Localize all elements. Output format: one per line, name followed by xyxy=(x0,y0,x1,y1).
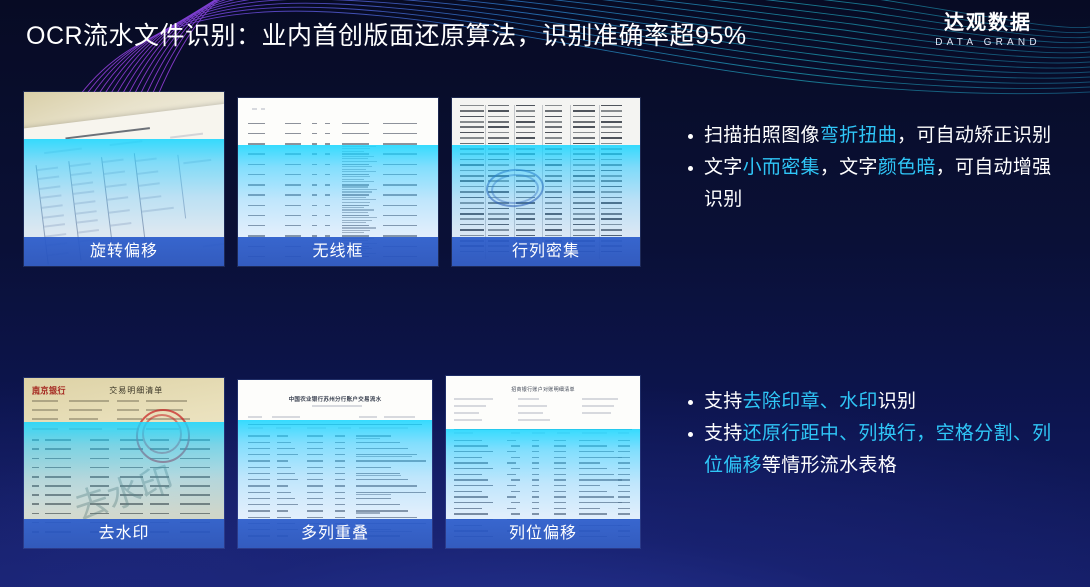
doc-texture-line xyxy=(277,510,287,511)
doc-texture-line xyxy=(312,164,317,165)
doc-texture-line xyxy=(342,151,365,152)
doc-texture-line xyxy=(516,213,535,215)
doc-texture-line xyxy=(460,235,484,237)
doc-texture-line xyxy=(342,207,365,208)
doc-texture-line xyxy=(601,170,622,172)
doc-texture-line xyxy=(356,438,380,439)
doc-texture-line xyxy=(45,476,71,478)
thumbnail-card-borderless[interactable]: 无线框 xyxy=(238,98,438,266)
doc-texture-line xyxy=(342,189,378,190)
doc-texture-line xyxy=(277,473,294,474)
thumbnail-card-remove-watermark[interactable]: 南京银行 BANK OF NANJING 交易明细清单 xyxy=(24,378,224,548)
doc-texture-line xyxy=(356,475,401,476)
doc-texture-line xyxy=(488,218,509,220)
doc-texture-line xyxy=(325,123,330,124)
doc-texture-line xyxy=(180,503,210,505)
doc-texture-line xyxy=(554,491,566,492)
doc-texture-line xyxy=(573,202,595,204)
card-caption: 旋转偏移 xyxy=(24,237,224,266)
doc-texture-line xyxy=(312,194,317,195)
doc-texture-line xyxy=(460,132,484,134)
doc-texture-line xyxy=(32,439,40,441)
doc-texture-line xyxy=(454,474,483,475)
doc-texture-line xyxy=(150,513,169,515)
bullet-text: ，文字 xyxy=(820,157,878,178)
doc-texture-line xyxy=(285,205,300,206)
doc-texture-line xyxy=(573,110,595,112)
doc-texture-line xyxy=(342,191,372,192)
doc-texture-line xyxy=(488,143,509,145)
doc-texture-line xyxy=(248,460,271,461)
doc-texture-line xyxy=(342,194,369,195)
doc-texture-line xyxy=(516,132,535,134)
doc-texture-line xyxy=(545,164,562,166)
doc-texture-line xyxy=(460,229,484,231)
doc-texture-line xyxy=(454,440,483,441)
doc-texture-line xyxy=(516,126,535,128)
doc-texture-line xyxy=(545,202,562,204)
bullet-text: 识别 xyxy=(878,391,917,412)
doc-texture-line xyxy=(532,445,539,446)
doc-texture-line xyxy=(307,435,323,436)
doc-texture-line xyxy=(579,502,622,503)
doc-texture-line xyxy=(507,508,516,509)
doc-texture-line xyxy=(32,476,40,478)
doc-texture-line xyxy=(516,159,535,161)
doc-texture-line xyxy=(573,208,595,210)
doc-texture-line xyxy=(342,153,369,154)
doc-texture-line xyxy=(307,504,323,505)
doc-texture-line xyxy=(356,456,412,457)
bullet-item: 文字小而密集，文字颜色暗，可自动增强识别 xyxy=(686,152,1058,216)
doc-texture-line xyxy=(488,224,509,226)
doc-texture-line xyxy=(248,467,271,468)
doc-texture-line xyxy=(601,159,622,161)
doc-texture-line xyxy=(342,164,369,165)
doc-texture-line xyxy=(601,153,622,155)
doc-texture-line xyxy=(516,218,535,220)
doc-texture-line xyxy=(573,116,595,118)
doc-texture-line xyxy=(545,213,562,215)
doc-texture-line xyxy=(573,180,595,182)
doc-texture-line xyxy=(277,435,287,436)
bullet-highlight-text: 颜色暗 xyxy=(878,157,936,178)
doc-texture-line xyxy=(248,174,265,175)
doc-texture-line xyxy=(277,504,298,505)
doc-texture-line xyxy=(460,105,484,107)
doc-texture-line xyxy=(460,224,484,226)
doc-texture-line xyxy=(335,504,345,505)
doc-texture-line xyxy=(516,208,535,210)
bullet-item: 扫描拍照图像弯折扭曲，可自动矫正识别 xyxy=(686,120,1058,152)
doc-texture-line xyxy=(460,143,484,145)
doc-texture-line xyxy=(545,175,562,177)
thumbnail-card-column-offset[interactable]: 招商银行账户对账明细清单 xyxy=(446,376,640,548)
doc-texture-line xyxy=(488,116,509,118)
doc-texture-line xyxy=(454,485,493,486)
doc-texture-line xyxy=(573,126,595,128)
doc-texture-line xyxy=(601,116,622,118)
doc-texture-line xyxy=(618,479,630,480)
doc-texture-line xyxy=(507,451,516,452)
doc-texture-line xyxy=(460,202,484,204)
doc-texture-line xyxy=(573,218,595,220)
doc-texture-line xyxy=(383,143,417,144)
doc-texture-line xyxy=(573,148,595,150)
doc-texture-line xyxy=(601,208,622,210)
doc-texture-line xyxy=(335,492,345,493)
doc-texture-line xyxy=(356,467,391,468)
doc-texture-line xyxy=(342,225,369,226)
doc-texture-line xyxy=(601,121,622,123)
doc-texture-line xyxy=(488,235,509,237)
doc-texture-line xyxy=(601,186,622,188)
doc-texture-line xyxy=(307,485,323,486)
doc-texture-line xyxy=(342,174,369,175)
doc-texture-line xyxy=(325,153,330,154)
doc-texture-line xyxy=(248,143,265,144)
doc-texture-line xyxy=(554,479,566,480)
doc-texture-line xyxy=(285,194,300,195)
thumbnail-card-multi-column-overlap[interactable]: 中国农业银行苏州分行账户交易流水 多列重叠 xyxy=(238,380,432,548)
doc-texture-line xyxy=(248,194,265,195)
doc-texture-line xyxy=(579,513,608,514)
bullet-highlight-text: 弯折扭曲 xyxy=(820,125,897,146)
doc-texture-line xyxy=(601,218,622,220)
doc-texture-line xyxy=(383,133,417,134)
doc-texture-line xyxy=(460,148,484,150)
doc-texture-line xyxy=(532,508,539,509)
doc-texture-line xyxy=(545,235,562,237)
brand-logo: 达观数据 DATA GRAND xyxy=(908,12,1068,48)
doc-texture-line xyxy=(460,121,484,123)
doc-texture-line xyxy=(285,153,300,154)
doc-texture-line xyxy=(342,156,374,157)
doc-texture-line xyxy=(342,166,372,167)
doc-texture-line xyxy=(277,454,298,455)
doc-texture-line xyxy=(460,137,484,139)
doc-texture-line xyxy=(532,485,539,486)
doc-texture-line xyxy=(532,468,539,469)
bullet-item: 支持还原行距中、列换行，空格分割、列位偏移等情形流水表格 xyxy=(686,418,1058,482)
doc-texture-line xyxy=(573,121,595,123)
doc-texture-line xyxy=(601,197,622,199)
doc-texture-line xyxy=(248,215,265,216)
doc-texture-line xyxy=(307,473,323,474)
doc-texture-line xyxy=(325,184,330,185)
doc-texture-line xyxy=(554,457,566,458)
doc-texture-line xyxy=(90,467,109,469)
doc-texture-line xyxy=(45,513,71,515)
doc-texture-line xyxy=(277,485,287,486)
doc-texture-line xyxy=(601,137,622,139)
doc-texture-line xyxy=(511,457,520,458)
doc-texture-line xyxy=(307,479,323,480)
doc-texture-line xyxy=(383,153,417,154)
bullet-text: 支持 xyxy=(704,423,743,444)
doc-texture-line xyxy=(554,513,566,514)
doc-texture-line xyxy=(579,462,600,463)
doc-texture-line xyxy=(342,181,374,182)
doc-texture-line xyxy=(454,457,483,458)
doc-texture-line xyxy=(516,121,535,123)
doc-texture-line xyxy=(248,504,271,505)
doc-texture-line xyxy=(356,454,417,455)
doc-texture-line xyxy=(45,458,71,460)
doc-texture-line xyxy=(307,498,323,499)
doc-texture-line xyxy=(545,208,562,210)
doc-texture-line xyxy=(454,445,488,446)
doc-texture-line xyxy=(554,485,566,486)
doc-texture-line xyxy=(545,186,562,188)
doc-texture-line xyxy=(573,170,595,172)
doc-texture-line xyxy=(579,496,615,497)
slide-root: OCR流水文件识别：业内首创版面还原算法，识别准确率超95% 达观数据 DATA… xyxy=(0,0,1090,587)
doc-texture-line xyxy=(342,220,372,221)
doc-texture-line xyxy=(312,153,317,154)
doc-texture-line xyxy=(285,174,300,175)
doc-texture-line xyxy=(601,213,622,215)
doc-texture-line xyxy=(356,510,408,511)
doc-texture-line xyxy=(342,199,376,200)
doc-texture-line xyxy=(285,123,300,124)
doc-texture-line xyxy=(488,164,509,166)
doc-texture-line xyxy=(325,225,330,226)
doc-texture-line xyxy=(307,517,323,518)
doc-texture-line xyxy=(601,164,622,166)
doc-texture-line xyxy=(579,508,600,509)
doc-texture-line xyxy=(32,503,40,505)
doc-texture-line xyxy=(601,148,622,150)
doc-texture-line xyxy=(532,462,539,463)
doc-texture-line xyxy=(573,197,595,199)
doc-texture-line xyxy=(342,197,366,198)
doc-texture-line xyxy=(532,457,539,458)
doc-texture-line xyxy=(342,161,378,162)
doc-texture-line xyxy=(545,126,562,128)
doc-texture-line xyxy=(488,229,509,231)
doc-texture-line xyxy=(248,492,271,493)
doc-texture-line xyxy=(312,143,317,144)
doc-texture-line xyxy=(285,164,300,165)
doc-texture-line xyxy=(454,508,483,509)
bullet-text: 等情形流水表格 xyxy=(762,455,897,476)
doc-texture-line xyxy=(325,143,330,144)
doc-texture-line xyxy=(573,229,595,231)
doc-texture-line xyxy=(488,137,509,139)
doc-texture-line xyxy=(342,209,374,210)
doc-texture-line xyxy=(312,215,317,216)
doc-texture-line xyxy=(342,215,369,216)
doc-texture-line xyxy=(307,448,323,449)
doc-texture-line xyxy=(285,225,300,226)
doc-texture-line xyxy=(516,143,535,145)
doc-texture-line xyxy=(180,467,210,469)
doc-texture-line xyxy=(488,148,509,150)
doc-texture-line xyxy=(488,153,509,155)
doc-texture-line xyxy=(579,440,600,441)
doc-texture-line xyxy=(507,485,516,486)
bullet-text: ，可自动矫正识别 xyxy=(897,125,1051,146)
thumbnail-card-rotated-offset[interactable]: 旋转偏移 xyxy=(24,92,224,266)
doc-texture-line xyxy=(342,171,376,172)
doc-texture-line xyxy=(488,121,509,123)
doc-texture-line xyxy=(248,498,271,499)
doc-texture-line xyxy=(601,202,622,204)
doc-texture-line xyxy=(545,180,562,182)
doc-texture-line xyxy=(516,229,535,231)
doc-texture-line xyxy=(618,508,630,509)
doc-texture-line xyxy=(335,454,345,455)
doc-texture-line xyxy=(618,451,630,452)
thumbnail-card-dense-grid[interactable]: 行列密集 xyxy=(452,98,640,266)
doc-texture-line xyxy=(383,194,417,195)
doc-texture-line xyxy=(601,180,622,182)
doc-texture-line xyxy=(335,479,345,480)
doc-texture-line xyxy=(618,462,630,463)
doc-texture-line xyxy=(507,474,516,475)
doc-texture-line xyxy=(248,448,271,449)
doc-texture-line xyxy=(579,451,615,452)
doc-texture-line xyxy=(342,176,370,177)
doc-texture-line xyxy=(454,502,493,503)
doc-texture-line xyxy=(325,215,330,216)
doc-texture-line xyxy=(460,186,484,188)
doc-texture-line xyxy=(277,479,298,480)
doc-texture-line xyxy=(579,485,600,486)
doc-texture-line xyxy=(545,159,562,161)
feature-bullets-group-1: 扫描拍照图像弯折扭曲，可自动矫正识别 文字小而密集，文字颜色暗，可自动增强识别 xyxy=(686,120,1058,216)
doc-texture-line xyxy=(342,232,365,233)
doc-texture-line xyxy=(618,485,630,486)
feature-bullets-group-2: 支持去除印章、水印识别 支持还原行距中、列换行，空格分割、列位偏移等情形流水表格 xyxy=(686,386,1058,482)
logo-english-name: DATA GRAND xyxy=(908,37,1068,48)
doc-texture-line xyxy=(248,479,271,480)
doc-texture-line xyxy=(307,460,323,461)
doc-texture-line xyxy=(460,191,484,193)
doc-texture-line xyxy=(516,235,535,237)
card-caption: 列位偏移 xyxy=(446,519,640,548)
doc-texture-line xyxy=(488,213,509,215)
doc-texture-line xyxy=(460,153,484,155)
bullet-text: 扫描拍照图像 xyxy=(704,125,820,146)
doc-texture-line xyxy=(312,174,317,175)
doc-texture-line xyxy=(356,494,391,495)
doc-texture-line xyxy=(307,510,323,511)
doc-texture-line xyxy=(579,445,608,446)
doc-texture-line xyxy=(554,451,566,452)
doc-texture-line xyxy=(454,513,488,514)
doc-texture-line xyxy=(545,197,562,199)
doc-texture-line xyxy=(618,496,630,497)
doc-texture-line xyxy=(601,191,622,193)
doc-texture-line xyxy=(342,217,378,218)
doc-texture-line xyxy=(573,105,595,107)
doc-texture-line xyxy=(248,473,271,474)
doc-texture-line xyxy=(573,186,595,188)
doc-texture-line xyxy=(545,153,562,155)
doc-texture-line xyxy=(545,116,562,118)
doc-texture-line xyxy=(545,170,562,172)
doc-texture-line xyxy=(601,143,622,145)
doc-texture-line xyxy=(516,116,535,118)
doc-texture-line xyxy=(573,191,595,193)
doc-texture-line xyxy=(342,230,370,231)
doc-texture-line xyxy=(312,123,317,124)
doc-texture-line xyxy=(325,194,330,195)
doc-texture-line xyxy=(383,205,417,206)
doc-texture-line xyxy=(516,153,535,155)
doc-texture-line xyxy=(554,462,566,463)
doc-texture-line xyxy=(545,105,562,107)
doc-texture-line xyxy=(32,513,40,515)
doc-texture-line xyxy=(342,169,366,170)
doc-texture-line xyxy=(532,440,539,441)
doc-texture-line xyxy=(342,222,366,223)
doc-texture-line xyxy=(312,205,317,206)
doc-texture-line xyxy=(32,458,40,460)
doc-texture-line xyxy=(307,492,323,493)
doc-texture-line xyxy=(579,468,608,469)
doc-texture-line xyxy=(460,208,484,210)
doc-texture-line xyxy=(573,235,595,237)
doc-texture-line xyxy=(532,496,539,497)
doc-texture-line xyxy=(277,460,287,461)
doc-texture-line xyxy=(460,218,484,220)
doc-texture-line xyxy=(516,105,535,107)
doc-texture-line xyxy=(248,510,271,511)
doc-texture-line xyxy=(307,467,323,468)
doc-texture-line xyxy=(488,132,509,134)
doc-texture-line xyxy=(45,448,71,450)
doc-texture-line xyxy=(511,468,520,469)
doc-texture-line xyxy=(545,191,562,193)
doc-texture-line xyxy=(356,485,417,486)
doc-texture-line xyxy=(248,485,271,486)
doc-texture-line xyxy=(454,479,488,480)
doc-texture-line xyxy=(356,479,408,480)
doc-texture-line xyxy=(573,159,595,161)
doc-texture-line xyxy=(383,215,417,216)
doc-texture-line xyxy=(90,458,109,460)
doc-texture-line xyxy=(248,205,265,206)
doc-texture-line xyxy=(545,143,562,145)
doc-texture-line xyxy=(488,110,509,112)
doc-texture-line xyxy=(45,494,71,496)
doc-texture-line xyxy=(618,440,630,441)
doc-texture-line xyxy=(356,473,400,474)
statement-title: 交易明细清单 xyxy=(109,385,183,396)
doc-texture-line xyxy=(460,213,484,215)
doc-texture-line xyxy=(180,485,210,487)
bullet-highlight-text: 去除印章、水印 xyxy=(743,391,878,412)
doc-texture-line xyxy=(573,137,595,139)
doc-texture-line xyxy=(573,164,595,166)
doc-texture-line xyxy=(554,502,566,503)
doc-texture-line xyxy=(573,143,595,145)
page-title: OCR流水文件识别：业内首创版面还原算法，识别准确率超95% xyxy=(26,16,747,52)
doc-texture-line xyxy=(356,512,380,513)
card-caption: 去水印 xyxy=(24,519,224,548)
doc-texture-line xyxy=(554,445,566,446)
doc-texture-line xyxy=(383,164,417,165)
doc-texture-line xyxy=(488,159,509,161)
doc-texture-line xyxy=(532,513,539,514)
doc-texture-line xyxy=(460,175,484,177)
doc-texture-line xyxy=(511,479,520,480)
doc-texture-line xyxy=(180,476,210,478)
bullet-text: 支持 xyxy=(704,391,743,412)
